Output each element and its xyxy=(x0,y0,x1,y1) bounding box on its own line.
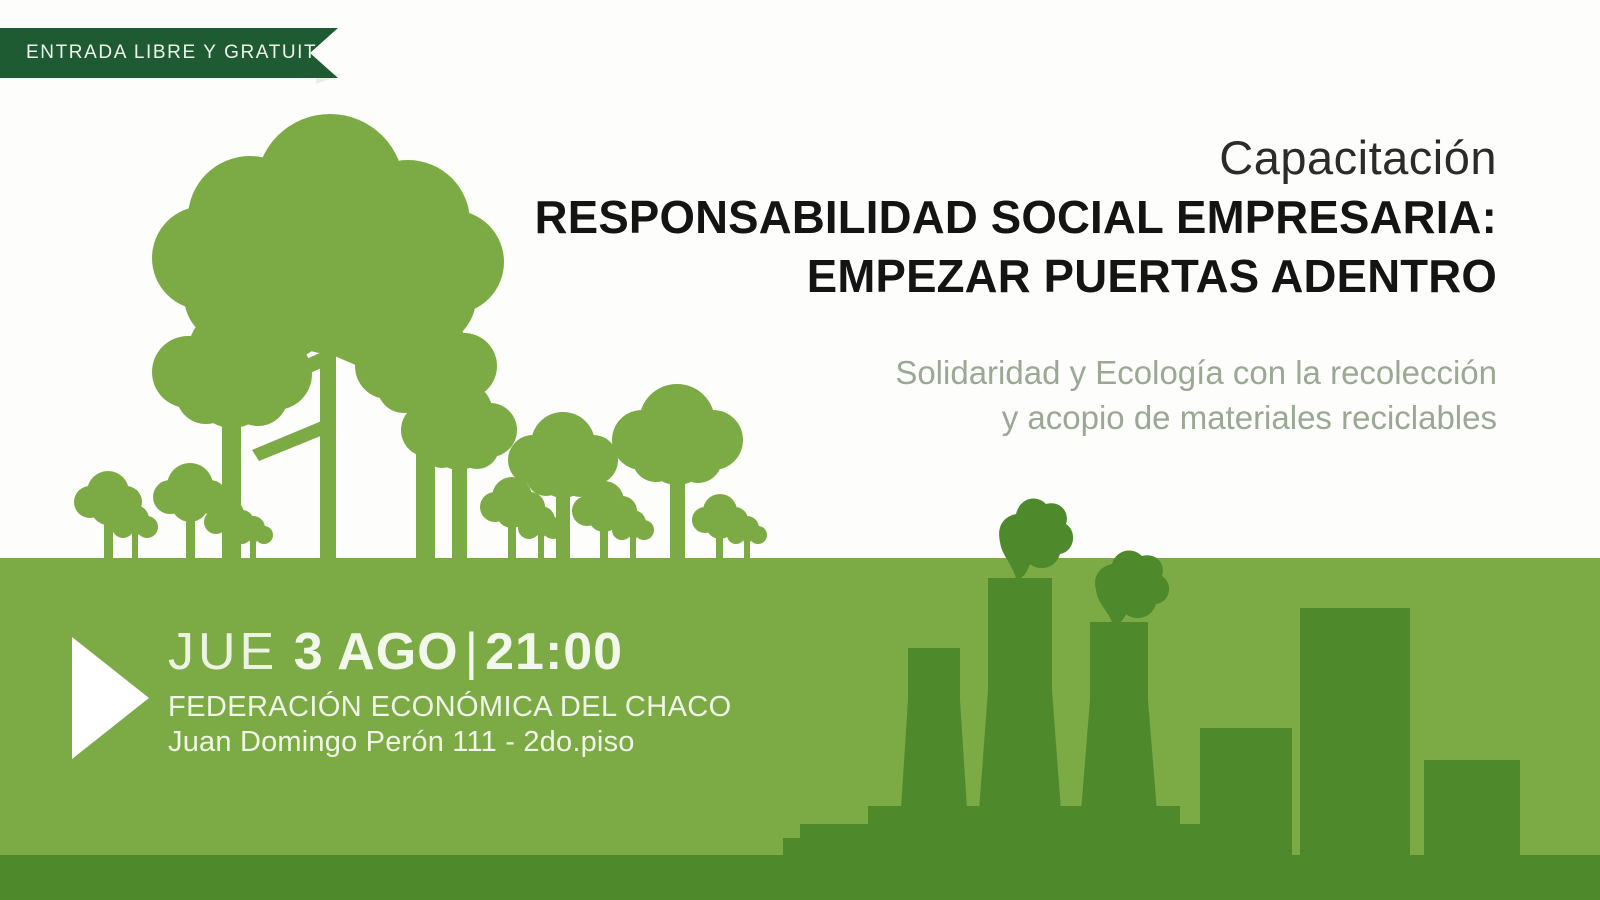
event-date: 3 AGO xyxy=(294,623,459,681)
eyebrow-label: Capacitación xyxy=(497,134,1497,182)
ribbon-label: ENTRADA LIBRE Y GRATUITA xyxy=(0,42,330,64)
event-address: Juan Domingo Perón 111 - 2do.piso xyxy=(168,726,732,759)
event-info-block: JUE 3 AGO|21:00 FEDERACIÓN ECONÓMICA DEL… xyxy=(168,626,732,759)
poster-canvas: ENTRADA LIBRE Y GRATUITA Capacitación RE… xyxy=(0,0,1600,900)
title-line-1: RESPONSABILIDAD SOCIAL EMPRESARIA: xyxy=(535,191,1497,243)
free-entry-ribbon: ENTRADA LIBRE Y GRATUITA xyxy=(0,28,338,78)
event-day-of-week: JUE xyxy=(168,623,278,681)
event-datetime: JUE 3 AGO|21:00 xyxy=(168,626,732,679)
subtitle-line-2: y acopio de materiales reciclables xyxy=(497,395,1497,441)
event-time: 21:00 xyxy=(485,623,623,681)
title-line-2: EMPEZAR PUERTAS ADENTRO xyxy=(507,247,1497,306)
play-triangle-icon xyxy=(72,637,149,759)
page-title: RESPONSABILIDAD SOCIAL EMPRESARIA: EMPEZ… xyxy=(507,188,1497,306)
subtitle-line-1: Solidaridad y Ecología con la recolecció… xyxy=(895,354,1497,391)
subtitle-block: Solidaridad y Ecología con la recolecció… xyxy=(497,350,1497,441)
event-venue: FEDERACIÓN ECONÓMICA DEL CHACO xyxy=(168,691,732,724)
datetime-separator: | xyxy=(459,623,486,681)
headline-block: Capacitación RESPONSABILIDAD SOCIAL EMPR… xyxy=(497,134,1497,441)
ground-strip xyxy=(0,855,1600,900)
